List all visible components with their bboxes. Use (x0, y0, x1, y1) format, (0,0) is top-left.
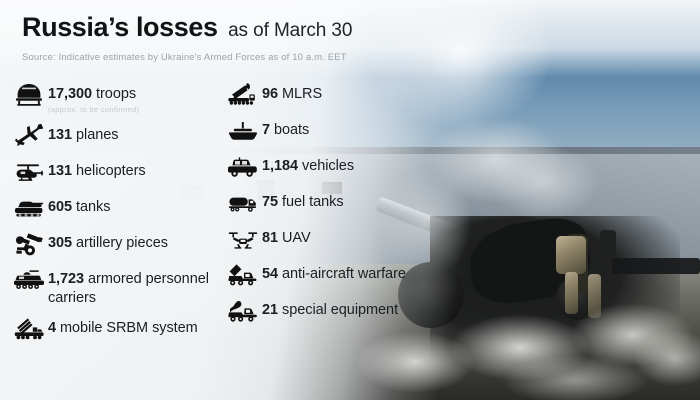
stat-row-troops: 17,300 troops (approx. to be confirmed) (14, 82, 219, 114)
stat-row-special-equipment: 21 special equipment (228, 298, 443, 325)
stat-label: 131 planes (48, 123, 118, 145)
stat-label: 605 tanks (48, 195, 110, 217)
mlrs-icon (228, 82, 262, 108)
stat-value: 305 (48, 235, 72, 251)
tank-icon (14, 195, 48, 221)
stat-value: 81 (262, 230, 278, 246)
armored-personnel-carrier-icon (14, 267, 48, 293)
stats-column-right: 96 MLRS 7 boats (228, 82, 443, 334)
stat-value: 4 (48, 320, 56, 336)
stat-name: vehicles (302, 158, 354, 174)
stat-value: 17,300 (48, 86, 92, 102)
anti-aircraft-truck-icon (228, 262, 262, 288)
boat-icon (228, 118, 262, 144)
stat-row-apc: 1,723 armored personnel carriers (14, 267, 219, 307)
stat-label: 305 artillery pieces (48, 231, 168, 253)
stat-label: 54 anti-aircraft warfare (262, 262, 406, 284)
stat-value: 96 (262, 86, 278, 102)
military-vehicle-icon (228, 154, 262, 180)
stat-label: 81 UAV (262, 226, 311, 248)
stat-value: 1,723 (48, 271, 84, 287)
stat-label: 1,184 vehicles (262, 154, 354, 176)
stat-name: special equipment (282, 302, 398, 318)
stat-name: UAV (282, 230, 311, 246)
stat-label: 21 special equipment (262, 298, 398, 320)
fighter-jet-icon (14, 123, 48, 149)
stat-row-planes: 131 planes (14, 123, 219, 150)
stat-name: planes (76, 127, 118, 143)
stat-value: 75 (262, 194, 278, 210)
stat-name: fuel tanks (282, 194, 344, 210)
helmet-icon (14, 82, 48, 108)
stat-value: 131 (48, 127, 72, 143)
stat-name: helicopters (76, 163, 146, 179)
stat-label: 96 MLRS (262, 82, 322, 104)
header: Russia’s losses as of March 30 Source: I… (22, 12, 352, 63)
stat-value: 21 (262, 302, 278, 318)
uav-drone-icon (228, 226, 262, 252)
stat-value: 7 (262, 122, 270, 138)
stat-row-srbm: 4 mobile SRBM system (14, 316, 219, 343)
stat-row-mlrs: 96 MLRS (228, 82, 443, 109)
stat-row-anti-aircraft: 54 anti-aircraft warfare (228, 262, 443, 289)
page-title: Russia’s losses as of March 30 (22, 12, 352, 43)
stat-name: mobile SRBM system (60, 320, 198, 336)
howitzer-icon (14, 231, 48, 257)
stat-name: MLRS (282, 86, 322, 102)
stat-name: boats (274, 122, 309, 138)
stat-label: 1,723 armored personnel carriers (48, 267, 219, 307)
stat-name: anti-aircraft warfare (282, 266, 406, 282)
helicopter-icon (14, 159, 48, 185)
stat-name: troops (96, 86, 136, 102)
stat-value: 131 (48, 163, 72, 179)
stat-value: 605 (48, 199, 72, 215)
stat-label: 131 helicopters (48, 159, 146, 181)
stat-value: 1,184 (262, 158, 298, 174)
stat-row-artillery: 305 artillery pieces (14, 231, 219, 258)
srbm-launcher-icon (14, 316, 48, 342)
stats-column-left: 17,300 troops (approx. to be confirmed) … (14, 82, 219, 352)
special-equipment-icon (228, 298, 262, 324)
stat-row-vehicles: 1,184 vehicles (228, 154, 443, 181)
stat-label: 75 fuel tanks (262, 190, 344, 212)
source-note: Source: Indicative estimates by Ukraine'… (22, 52, 352, 63)
stat-label: 7 boats (262, 118, 309, 140)
stat-row-boats: 7 boats (228, 118, 443, 145)
title-main: Russia’s losses (22, 12, 218, 42)
stat-name: tanks (76, 199, 110, 215)
stat-row-tanks: 605 tanks (14, 195, 219, 222)
stat-row-uav: 81 UAV (228, 226, 443, 253)
stat-row-fuel-tanks: 75 fuel tanks (228, 190, 443, 217)
title-subtitle: as of March 30 (228, 20, 352, 41)
stat-note: (approx. to be confirmed) (48, 105, 139, 115)
stat-value: 54 (262, 266, 278, 282)
stat-name: artillery pieces (76, 235, 168, 251)
stat-label: 4 mobile SRBM system (48, 316, 198, 338)
fuel-tanker-icon (228, 190, 262, 216)
stat-row-helicopters: 131 helicopters (14, 159, 219, 186)
infographic-root: Russia’s losses as of March 30 Source: I… (0, 0, 700, 400)
stat-label: 17,300 troops (approx. to be confirmed) (48, 82, 139, 114)
content-layer: Russia’s losses as of March 30 Source: I… (0, 0, 700, 400)
